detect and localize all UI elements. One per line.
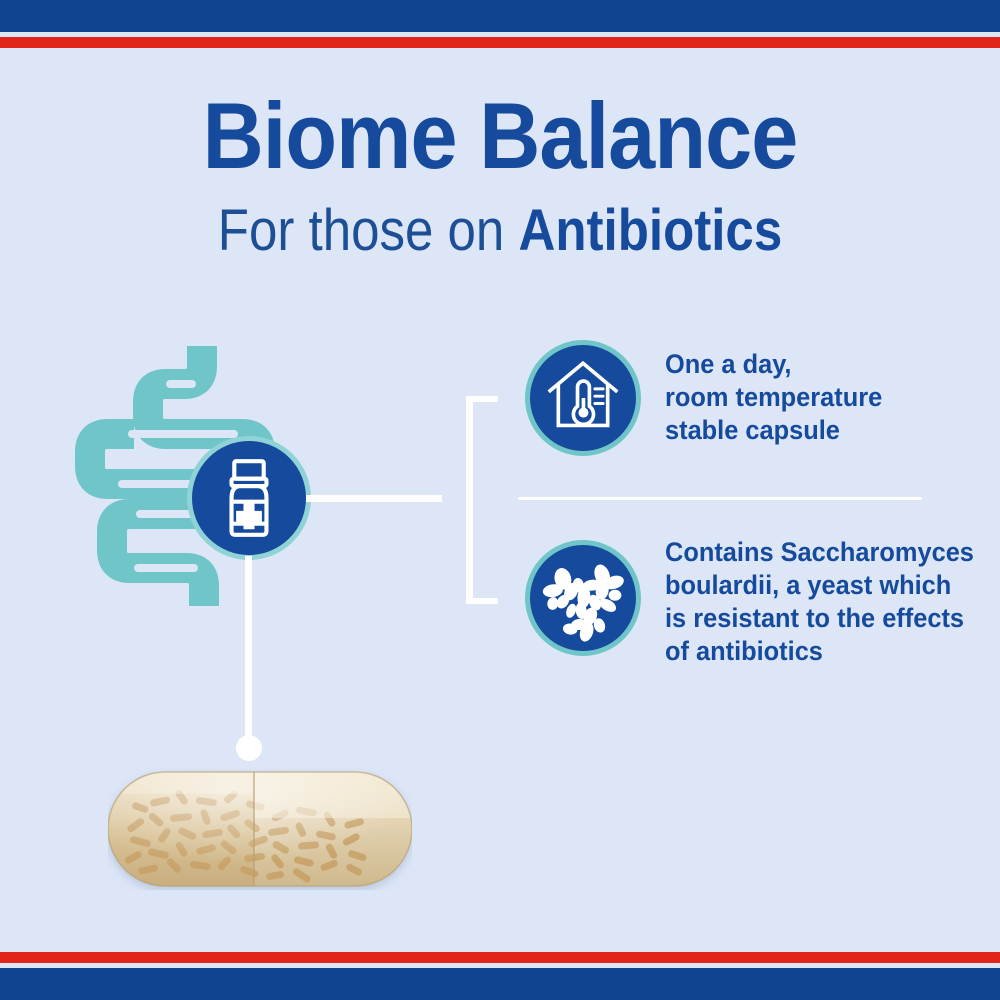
subtitle-emphasis: Antibiotics xyxy=(519,198,783,263)
feature-1-line-3: stable capsule xyxy=(665,414,975,447)
probiotic-capsule xyxy=(108,768,412,890)
connector-drop-line xyxy=(245,556,252,750)
bottom-blue-band xyxy=(0,968,1000,1000)
feature-2-line-2: boulardii, a yeast which xyxy=(665,569,985,602)
connector-bracket xyxy=(466,396,473,604)
feature-1-text: One a day, room temperature stable capsu… xyxy=(665,348,975,447)
infographic-canvas: Biome Balance For those on Antibiotics xyxy=(0,0,1000,1000)
medicine-bottle-icon xyxy=(187,436,311,560)
feature-2-line-1: Contains Saccharomyces xyxy=(665,536,985,569)
page-subtitle: For those on Antibiotics xyxy=(60,200,940,262)
feature-2-line-3: is resistant to the effects xyxy=(665,602,985,635)
feature-1-line-1: One a day, xyxy=(665,348,975,381)
connector-endpoint-dot xyxy=(236,735,262,761)
top-red-stripe xyxy=(0,37,1000,48)
bottom-red-stripe xyxy=(0,952,1000,963)
subtitle-prefix: For those on xyxy=(218,198,519,263)
top-blue-band xyxy=(0,0,1000,32)
feature-divider xyxy=(518,497,922,500)
feature-2-text: Contains Saccharomyces boulardii, a yeas… xyxy=(665,536,985,668)
house-thermometer-icon xyxy=(525,340,641,456)
yeast-cells-icon xyxy=(525,540,641,656)
connector-bracket-top xyxy=(466,396,498,402)
connector-stem xyxy=(306,495,442,502)
feature-1-line-2: room temperature xyxy=(665,381,975,414)
feature-2-line-4: of antibiotics xyxy=(665,635,985,668)
page-title: Biome Balance xyxy=(50,88,950,184)
connector-bracket-bottom xyxy=(466,598,498,604)
